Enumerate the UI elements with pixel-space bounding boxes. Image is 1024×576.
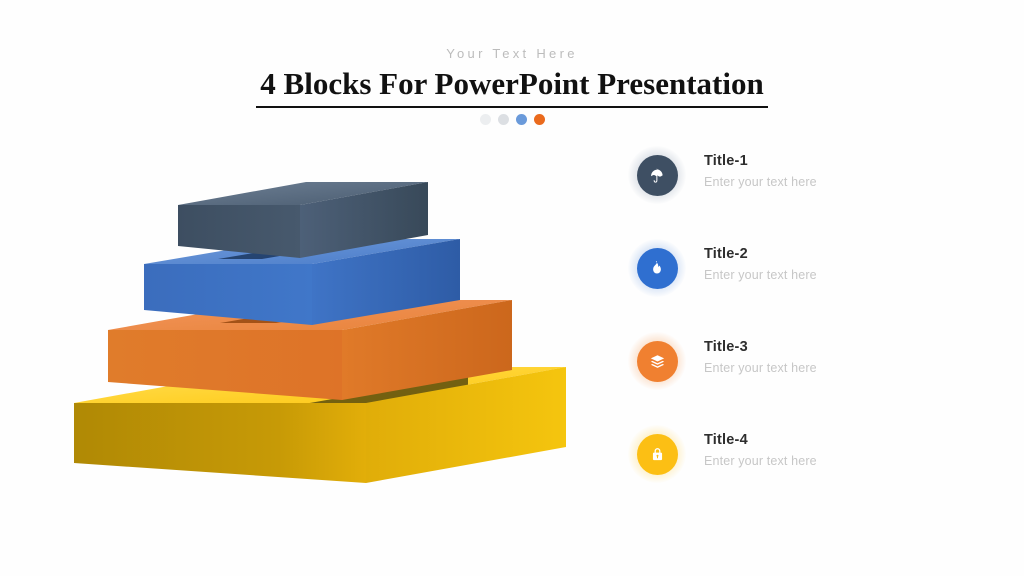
badge-disc [637,248,678,289]
item-title: Title-2 [704,247,817,262]
layers-icon [649,353,666,370]
lock-icon [650,447,665,462]
umbrella-icon [649,167,666,184]
badge-disc [637,155,678,196]
slide-canvas: Your Text Here 4 Blocks For PowerPoint P… [0,0,1024,576]
item-subtitle: Enter your text here [704,269,817,282]
list-item[interactable]: Title-3Enter your text here [628,332,988,425]
list-item[interactable]: Title-2Enter your text here [628,239,988,332]
item-text-group: Title-2Enter your text here [704,239,817,281]
title-container: 4 Blocks For PowerPoint Presentation [0,66,1024,108]
item-badge-1[interactable] [628,146,686,204]
feature-list: Title-1Enter your text hereTitle-2Enter … [628,146,988,518]
item-subtitle: Enter your text here [704,362,817,375]
item-title: Title-1 [704,154,817,169]
badge-disc [637,341,678,382]
dot-indicator-group [0,114,1024,125]
dot-1[interactable] [480,114,491,125]
item-title: Title-3 [704,340,817,355]
dot-2[interactable] [498,114,509,125]
item-text-group: Title-1Enter your text here [704,146,817,188]
item-badge-3[interactable] [628,332,686,390]
item-subtitle: Enter your text here [704,176,817,189]
list-item[interactable]: Title-1Enter your text here [628,146,988,239]
item-subtitle: Enter your text here [704,455,817,468]
item-badge-2[interactable] [628,239,686,297]
item-text-group: Title-3Enter your text here [704,332,817,374]
eyebrow-text: Your Text Here [0,46,1024,61]
item-text-group: Title-4Enter your text here [704,425,817,467]
dot-3[interactable] [516,114,527,125]
stacked-blocks-diagram [60,160,580,520]
item-badge-4[interactable] [628,425,686,483]
item-title: Title-4 [704,433,817,448]
page-title: 4 Blocks For PowerPoint Presentation [256,66,767,108]
flame-icon [649,260,665,276]
list-item[interactable]: Title-4Enter your text here [628,425,988,518]
badge-disc [637,434,678,475]
dot-4[interactable] [534,114,545,125]
